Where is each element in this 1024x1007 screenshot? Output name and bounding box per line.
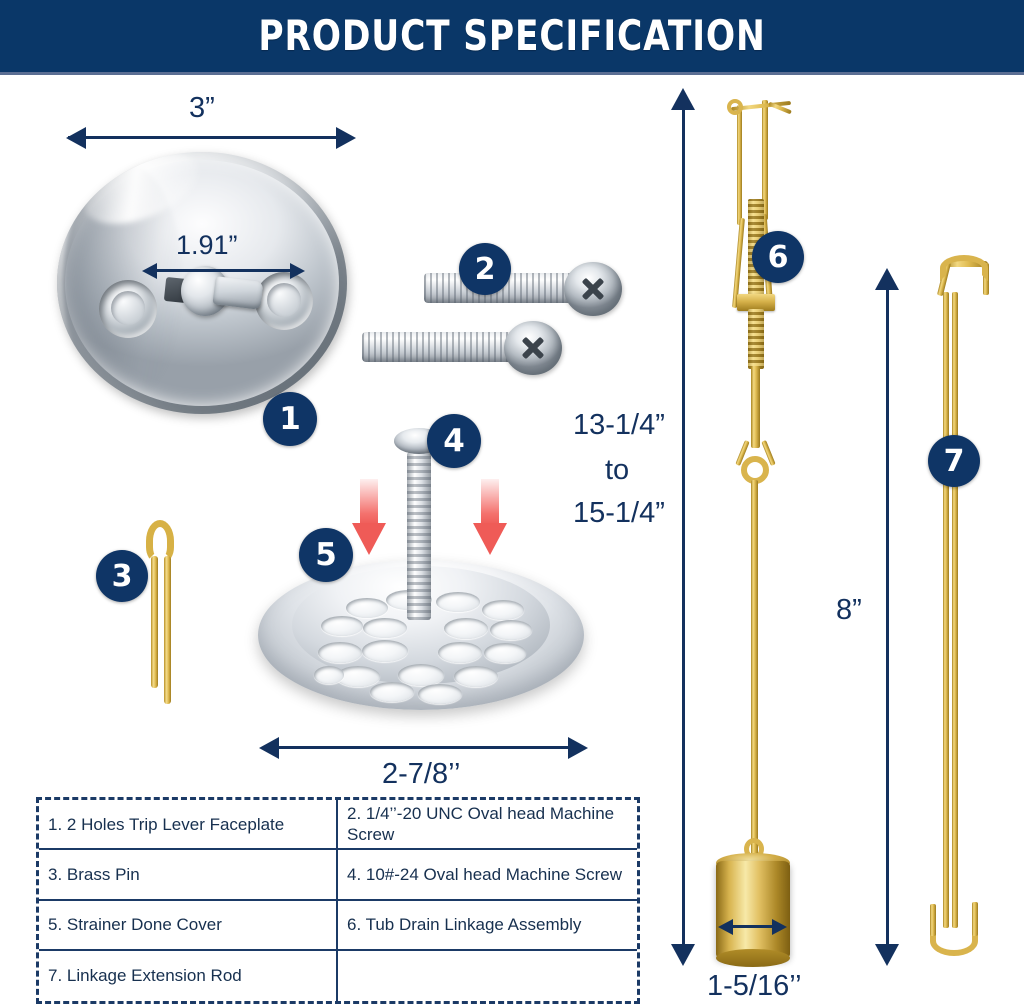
legend-row: 5. Strainer Done Cover 6. Tub Drain Link…	[39, 901, 637, 951]
legend-item-4: 4. 10#-24 Oval head Machine Screw	[338, 850, 637, 898]
dimension-arrow-right-strainer	[568, 737, 588, 759]
faceplate-trip-lever	[212, 276, 263, 310]
badge-2: 2	[459, 243, 511, 295]
strainer-hole	[318, 642, 362, 663]
dimension-arrow-left-faceplate-holes	[142, 263, 157, 279]
dimension-arrow-down-rod	[875, 944, 899, 966]
extension-rod-top-hook-curve	[940, 255, 988, 281]
arrow-tip	[473, 523, 507, 555]
legend-table: 1. 2 Holes Trip Lever Faceplate 2. 1/4’’…	[36, 797, 640, 1004]
linkage-lift-wire	[751, 480, 758, 860]
dimension-label-linkage-min: 13-1/4”	[573, 409, 665, 442]
dimension-arrow-up-linkage	[671, 88, 695, 110]
legend-item-5: 5. Strainer Done Cover	[39, 901, 338, 949]
dimension-label-linkage-to: to	[605, 454, 629, 487]
arrow-stem	[481, 479, 499, 525]
brass-pin-leg-left	[151, 556, 158, 688]
dimension-line-linkage-length	[682, 103, 685, 953]
machine-screw-upper	[424, 260, 624, 316]
strainer-hole	[363, 618, 407, 638]
screw-shaft	[362, 332, 516, 362]
badge-7: 7	[928, 435, 980, 487]
strainer-hole	[346, 598, 388, 618]
dimension-arrow-left-strainer	[259, 737, 279, 759]
phillips-cross-icon	[515, 330, 552, 367]
legend-item-3: 3. Brass Pin	[39, 850, 338, 898]
page-title: PRODUCT SPECIFICATION	[92, 8, 932, 64]
strainer-hole	[436, 592, 480, 612]
dimension-arrow-left-faceplate-width	[66, 127, 86, 149]
badge-5: 5	[299, 528, 353, 582]
extension-rod-bottom-hook-left	[930, 904, 936, 936]
machine-screw-lower	[362, 318, 562, 374]
dimension-label-rod-length: 8”	[836, 594, 862, 627]
dimension-arrow-left-plunger	[718, 919, 733, 935]
strainer-hole	[321, 616, 363, 636]
screw-head	[504, 321, 562, 375]
strainer-hole	[398, 664, 444, 686]
linkage-cotter-loop	[727, 99, 743, 115]
phillips-cross-icon	[575, 271, 612, 308]
extension-rod-bottom-hook-right	[972, 902, 978, 936]
extension-rod-shaft-left	[943, 292, 949, 928]
plunger-weight-bottom	[716, 949, 790, 967]
dimension-arrow-right-faceplate-holes	[290, 263, 305, 279]
dimension-line-rod-length	[886, 285, 889, 953]
strainer-hole	[482, 600, 524, 620]
strainer-hole	[370, 682, 414, 702]
badge-6: 6	[752, 231, 804, 283]
strainer-hole	[444, 618, 488, 639]
faceplate-screw-hole-right	[255, 272, 313, 330]
strainer-hole	[314, 666, 344, 684]
dimension-arrow-down-linkage	[671, 944, 695, 966]
linkage-rod-stem	[751, 366, 760, 448]
dimension-label-plunger-diameter: 1-5/16’’	[707, 970, 802, 1003]
dimension-line-faceplate-width	[68, 136, 350, 139]
header-underline	[0, 72, 1024, 75]
legend-item-1: 1. 2 Holes Trip Lever Faceplate	[39, 800, 338, 848]
dimension-line-plunger-diameter	[729, 925, 777, 928]
legend-item-empty	[338, 951, 637, 1001]
badge-1: 1	[263, 392, 317, 446]
brass-pin	[140, 520, 184, 700]
strainer-hole	[362, 640, 408, 662]
legend-item-6: 6. Tub Drain Linkage Assembly	[338, 901, 637, 949]
plunger-weight	[716, 861, 790, 959]
install-direction-arrow-right	[473, 479, 507, 557]
strainer-hole	[418, 684, 462, 704]
strainer-hole	[438, 642, 482, 663]
strainer-screw-shaft	[407, 452, 431, 620]
strainer-hole	[484, 643, 526, 663]
extension-rod-bottom-hook-curve	[930, 926, 978, 956]
trip-lever-faceplate	[57, 152, 347, 414]
legend-item-2: 2. 1/4’’-20 UNC Oval head Machine Screw	[338, 800, 637, 848]
arrow-stem	[360, 479, 378, 525]
dimension-label-strainer-diameter: 2-7/8’’	[382, 758, 460, 791]
badge-4: 4	[427, 414, 481, 468]
strainer-hole	[454, 666, 498, 687]
legend-item-7: 7. Linkage Extension Rod	[39, 951, 338, 1001]
dimension-arrow-up-rod	[875, 268, 899, 290]
linkage-yoke-left	[737, 105, 742, 225]
install-direction-arrow-left	[352, 479, 386, 557]
dimension-line-faceplate-holes	[151, 269, 299, 272]
linkage-threaded-rod-lower	[748, 309, 764, 369]
arrow-tip	[352, 523, 386, 555]
legend-row: 7. Linkage Extension Rod	[39, 951, 637, 1001]
dimension-label-faceplate-holes: 1.91”	[176, 230, 238, 261]
dimension-label-faceplate-width: 3”	[189, 92, 215, 125]
faceplate-screw-hole-left	[99, 280, 157, 338]
screw-head	[564, 262, 622, 316]
dimension-label-linkage-max: 15-1/4”	[573, 497, 665, 530]
legend-row: 3. Brass Pin 4. 10#-24 Oval head Machine…	[39, 850, 637, 900]
brass-pin-leg-right	[164, 556, 171, 704]
dimension-line-strainer-diameter	[277, 746, 580, 749]
strainer-hole	[490, 620, 532, 640]
badge-3: 3	[96, 550, 148, 602]
dimension-arrow-right-faceplate-width	[336, 127, 356, 149]
dimension-arrow-right-plunger	[772, 919, 787, 935]
extension-rod-shaft-right	[952, 292, 958, 928]
product-specification-page: PRODUCT SPECIFICATION 3” 1.91” 1	[0, 0, 1024, 1007]
legend-row: 1. 2 Holes Trip Lever Faceplate 2. 1/4’’…	[39, 800, 637, 850]
